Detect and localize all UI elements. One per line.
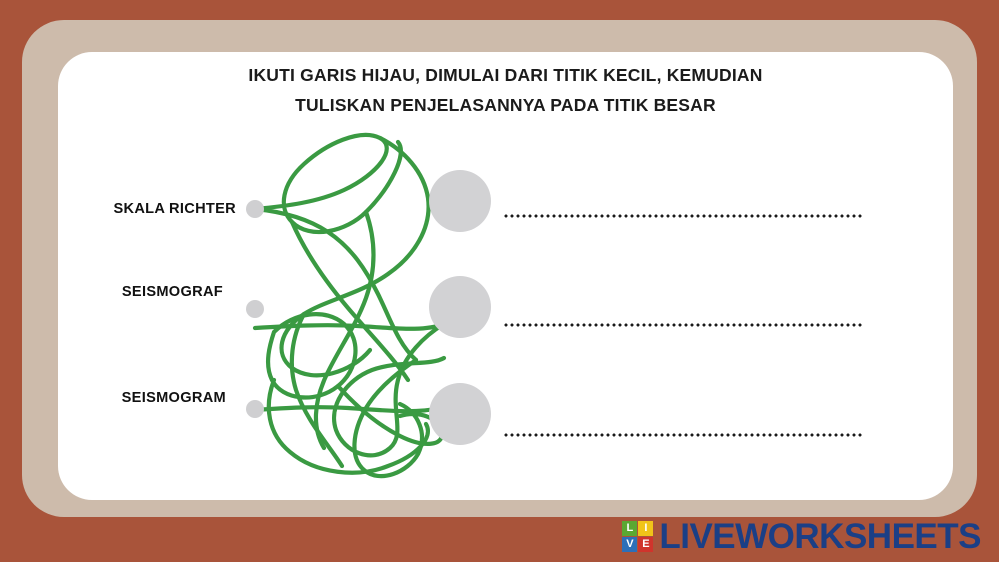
green-tangle-lines: [248, 128, 448, 490]
target-circle-seismograf[interactable]: [429, 276, 491, 338]
logo-letter-v: V: [622, 537, 637, 552]
answer-line-seismograf[interactable]: [503, 323, 864, 327]
answer-line-seismogram[interactable]: [503, 433, 864, 437]
logo-letter-e: E: [638, 537, 653, 552]
liveworksheets-wordmark: LIVEWORKSHEETS: [659, 519, 981, 554]
row-label-seismogram: SEISMOGRAM: [40, 390, 226, 406]
start-dot-seismogram[interactable]: [246, 400, 264, 418]
target-circle-skala-richter[interactable]: [429, 170, 491, 232]
page-title-line-2: TULISKAN PENJELASANNYA PADA TITIK BESAR: [58, 90, 953, 120]
row-label-skala-richter: SKALA RICHTER: [40, 201, 236, 217]
answer-line-skala-richter[interactable]: [503, 214, 864, 218]
start-dot-skala-richter[interactable]: [246, 200, 264, 218]
worksheet-page: IKUTI GARIS HIJAU, DIMULAI DARI TITIK KE…: [0, 0, 999, 562]
page-title-line-1: IKUTI GARIS HIJAU, DIMULAI DARI TITIK KE…: [58, 60, 953, 90]
liveworksheets-logo[interactable]: L I V E LIVEWORKSHEETS: [622, 519, 981, 554]
liveworksheets-logomark-icon: L I V E: [622, 521, 653, 552]
start-dot-seismograf[interactable]: [246, 300, 264, 318]
logo-letter-i: I: [638, 521, 653, 536]
page-title: IKUTI GARIS HIJAU, DIMULAI DARI TITIK KE…: [58, 60, 953, 120]
logo-letter-l: L: [622, 521, 637, 536]
row-label-seismograf: SEISMOGRAF: [40, 284, 223, 300]
target-circle-seismogram[interactable]: [429, 383, 491, 445]
